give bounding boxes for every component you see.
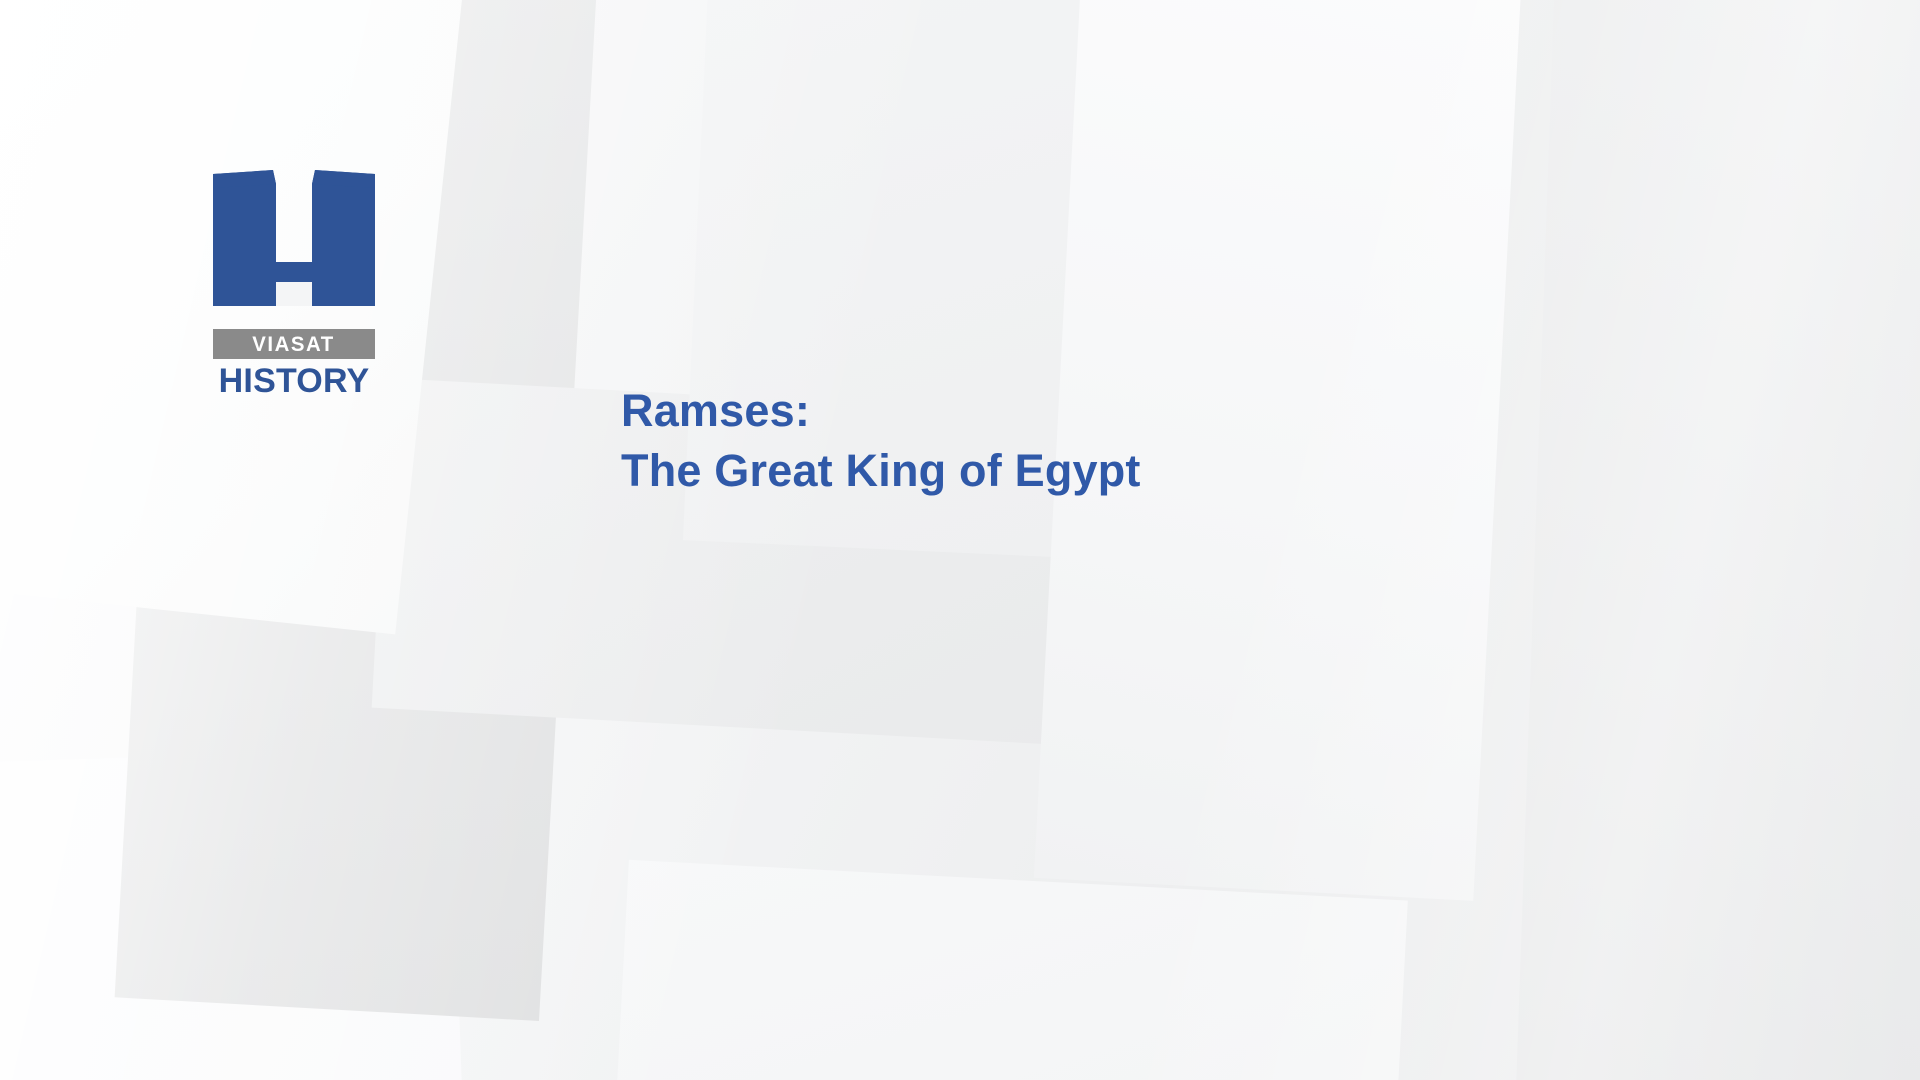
background-sheen-overlay (0, 0, 1920, 1080)
background-panel-left-column (115, 0, 601, 1021)
viasat-history-logo: VIASAT HISTORY (213, 170, 375, 398)
viasat-h-mark-icon (213, 170, 375, 330)
history-wordmark: HISTORY (213, 364, 375, 398)
background-geometry (0, 0, 1920, 1080)
background-panel-right-edge (1513, 0, 1920, 1080)
background-panel-bottom-left (0, 746, 470, 1080)
programme-title: Ramses: The Great King of Egypt (621, 381, 1521, 501)
title-card: VIASAT HISTORY Ramses: The Great King of… (0, 0, 1920, 1080)
viasat-wordmark: VIASAT (253, 334, 336, 355)
viasat-wordmark-bar: VIASAT (213, 329, 375, 359)
background-panel-lower-middle (612, 860, 1408, 1080)
title-line-2: The Great King of Egypt (621, 441, 1521, 501)
title-line-1: Ramses: (621, 381, 1521, 441)
